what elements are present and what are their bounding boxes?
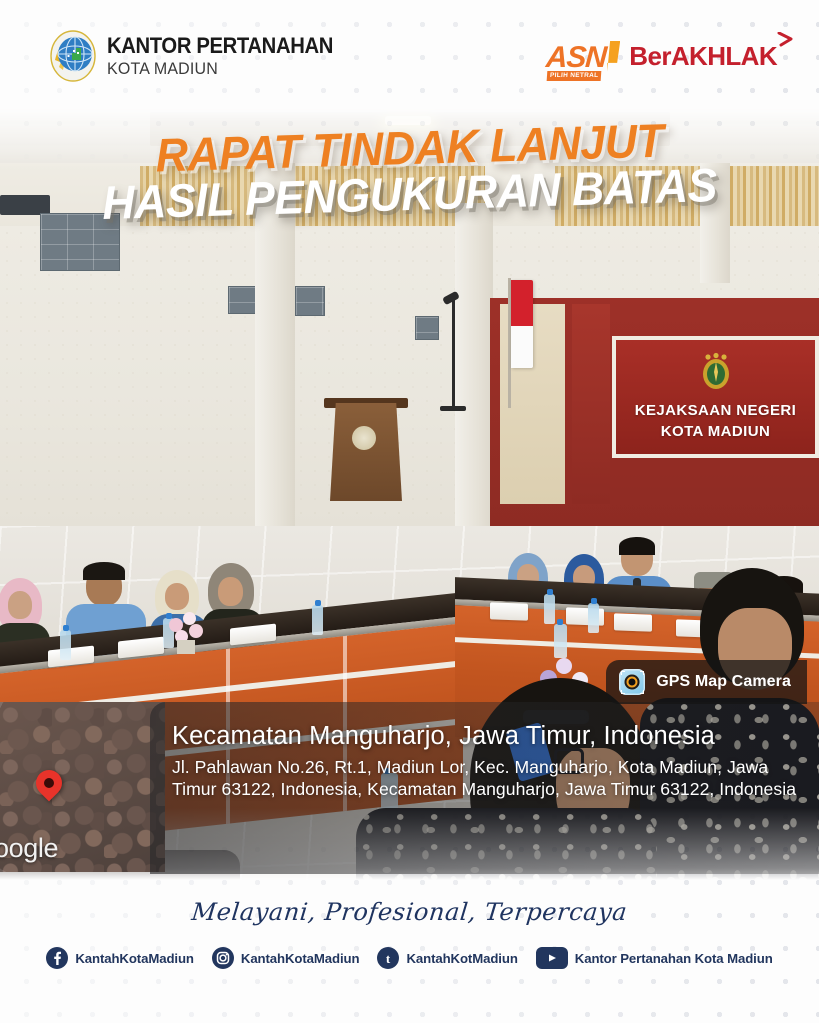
gps-map-camera-badge: GPS Map Camera: [606, 660, 807, 704]
banner-line2: KOTA MADIUN: [616, 423, 815, 440]
location-overlay-panel: Kecamatan Manguharjo, Jawa Timur, Indone…: [150, 702, 819, 874]
location-address: Jl. Pahlawan No.26, Rt.1, Madiun Lor, Ke…: [172, 756, 801, 801]
map-pin-icon: [31, 765, 68, 802]
org-name-line2: KOTA MADIUN: [107, 60, 343, 77]
social-item-youtube[interactable]: Kantor Pertanahan Kota Madiun: [536, 947, 773, 969]
berakhlak-word: BerAKHLAK: [629, 41, 791, 72]
instagram-icon: [212, 947, 234, 969]
poster-canvas: KEJAKSAAN NEGERI KOTA MADIUN: [0, 0, 819, 1023]
indonesia-flag-icon: [511, 280, 533, 368]
social-handle-facebook: KantahKotaMadiun: [75, 951, 194, 966]
social-handle-youtube: Kantor Pertanahan Kota Madiun: [575, 951, 773, 966]
asn-word: ASN: [545, 45, 607, 71]
social-handle-tiktok: KantahKotMadiun: [406, 951, 517, 966]
berakhlak-label: BerAKHLAK: [629, 41, 777, 71]
social-media-bar: KantahKotaMadiun KantahKotaMadiun t Kant…: [0, 947, 819, 969]
kejaksaan-banner: KEJAKSAAN NEGERI KOTA MADIUN: [612, 336, 819, 458]
social-item-facebook[interactable]: KantahKotaMadiun: [46, 947, 194, 969]
social-item-instagram[interactable]: KantahKotaMadiun: [212, 947, 360, 969]
berakhlak-swoosh-icon: [777, 32, 793, 54]
map-thumbnail: oogle: [0, 702, 165, 872]
location-title: Kecamatan Manguharjo, Jawa Timur, Indone…: [172, 722, 801, 751]
youtube-icon: [536, 947, 568, 969]
gps-map-camera-label: GPS Map Camera: [656, 673, 791, 691]
poster-header: KANTOR PERTANAHAN KOTA MADIUN ASN PILIH …: [0, 0, 819, 112]
asn-exclamation-icon: [607, 41, 620, 72]
tagline: Melayani, Profesional, Terpercaya: [0, 898, 819, 926]
kejaksaan-emblem-icon: [698, 352, 734, 392]
bpn-globe-emblem-icon: [50, 30, 96, 82]
gps-map-camera-icon: [619, 669, 645, 695]
poster-title: RAPAT TINDAK LANJUT HASIL PENGUKURAN BAT…: [0, 125, 819, 216]
org-name-line1: KANTOR PERTANAHAN: [107, 35, 333, 58]
social-handle-instagram: KantahKotaMadiun: [241, 951, 360, 966]
asn-tagline: PILIH NETRAL: [546, 71, 601, 81]
brand-block: KANTOR PERTANAHAN KOTA MADIUN: [50, 30, 358, 82]
social-item-tiktok[interactable]: t KantahKotMadiun: [377, 947, 517, 969]
tiktok-icon: t: [377, 947, 399, 969]
asn-logo: ASN PILIH NETRAL: [546, 41, 621, 72]
svg-text:t: t: [386, 951, 391, 966]
akhlak-logo-block: ASN PILIH NETRAL BerAKHLAK: [546, 41, 791, 72]
banner-line1: KEJAKSAAN NEGERI: [616, 402, 815, 419]
facebook-icon: [46, 947, 68, 969]
google-watermark: oogle: [0, 833, 58, 864]
